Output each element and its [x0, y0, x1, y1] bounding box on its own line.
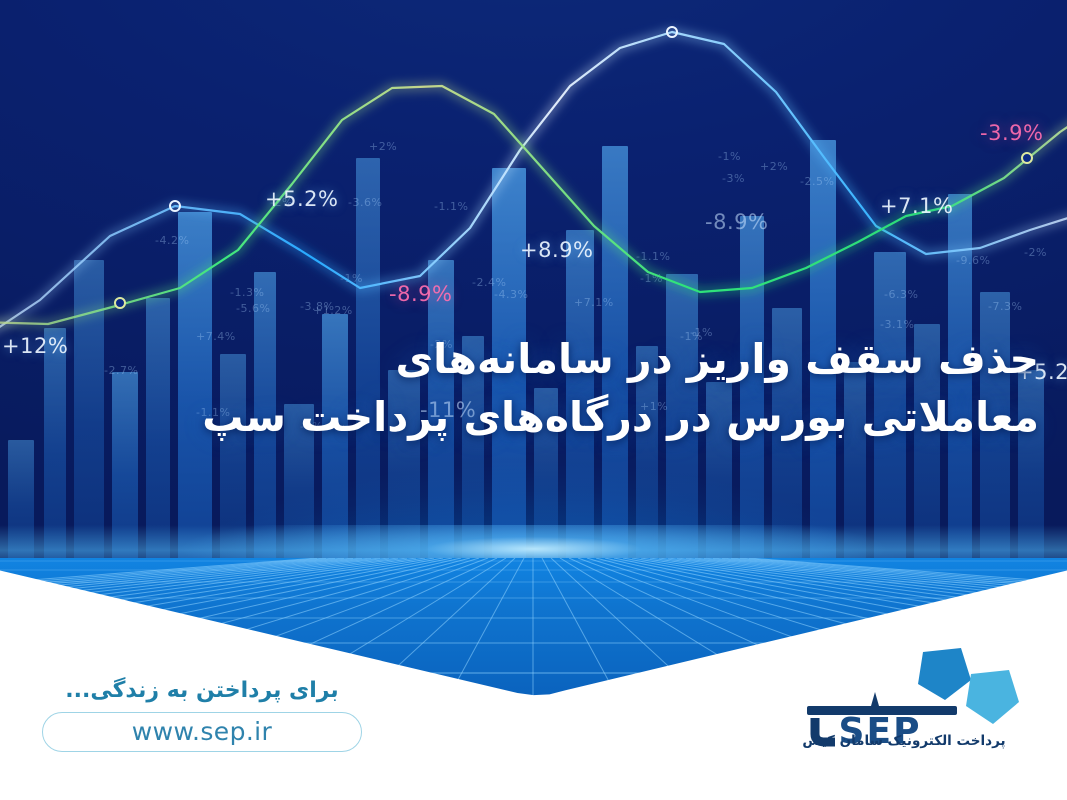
slogan-block: برای پرداختن به زندگی... www.sep.ir [42, 678, 362, 752]
logo-tagline: پرداخت الکترونیک سامان کیش [789, 733, 1019, 749]
footer: برای پرداختن به زندگی... www.sep.ir SEP … [0, 700, 1067, 800]
curve-glow-green-line [0, 86, 1067, 324]
logo-shape-light [966, 670, 1019, 724]
trend-curves [0, 0, 1067, 560]
website-url-button[interactable]: www.sep.ir [42, 712, 362, 752]
slogan-text: برای پرداختن به زندگی... [42, 678, 362, 703]
hero-panel: -2%+2%-4.2%-1.3%-3.8%+7.4%-2.7%-1.1%-5.6… [0, 0, 1067, 700]
curve-marker [1022, 153, 1032, 163]
curve-marker [115, 298, 125, 308]
curve-green-line [0, 86, 1067, 324]
banner-root: -2%+2%-4.2%-1.3%-3.8%+7.4%-2.7%-1.1%-5.6… [0, 0, 1067, 800]
logo-shape-dark [918, 648, 971, 700]
